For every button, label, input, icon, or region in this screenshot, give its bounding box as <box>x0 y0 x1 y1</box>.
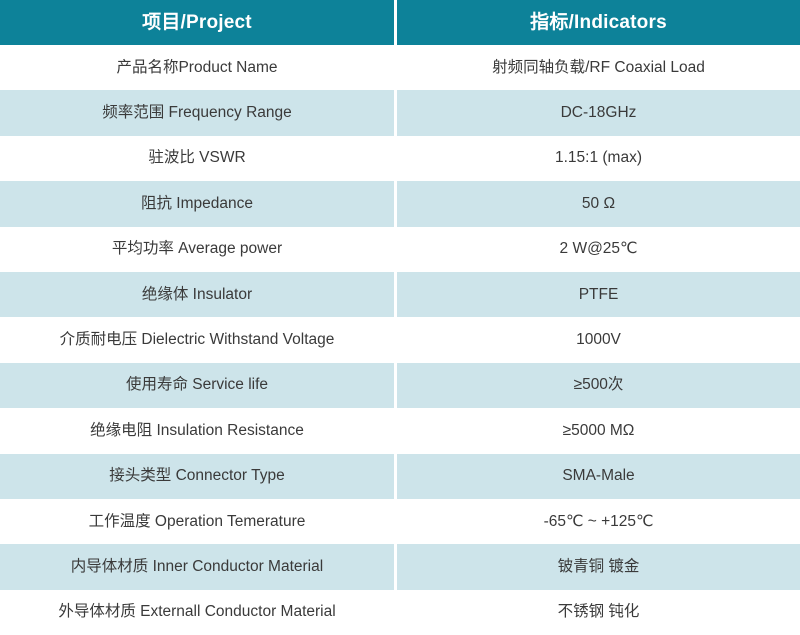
cell-indicator: 铍青铜 镀金 <box>396 544 800 589</box>
table-row: 平均功率 Average power2 W@25℃ <box>0 227 800 272</box>
cell-project: 内导体材质 Inner Conductor Material <box>0 544 396 589</box>
cell-project: 介质耐电压 Dielectric Withstand Voltage <box>0 317 396 362</box>
cell-indicator: 1.15:1 (max) <box>396 136 800 181</box>
table-header-row: 项目/Project 指标/Indicators <box>0 0 800 45</box>
table-row: 工作温度 Operation Temerature-65℃ ~ +125℃ <box>0 499 800 544</box>
table-row: 接头类型 Connector TypeSMA-Male <box>0 454 800 499</box>
column-header-indicators: 指标/Indicators <box>396 0 800 45</box>
cell-project: 驻波比 VSWR <box>0 136 396 181</box>
table-row: 产品名称Product Name射频同轴负载/RF Coaxial Load <box>0 45 800 90</box>
cell-indicator: -65℃ ~ +125℃ <box>396 499 800 544</box>
cell-indicator: SMA-Male <box>396 454 800 499</box>
table-row: 介质耐电压 Dielectric Withstand Voltage1000V <box>0 317 800 362</box>
table-row: 使用寿命 Service life≥500次 <box>0 363 800 408</box>
table-row: 频率范围 Frequency RangeDC-18GHz <box>0 90 800 135</box>
cell-indicator: ≥5000 MΩ <box>396 408 800 453</box>
column-header-project: 项目/Project <box>0 0 396 45</box>
specification-table: 项目/Project 指标/Indicators 产品名称Product Nam… <box>0 0 800 635</box>
table-row: 绝缘体 InsulatorPTFE <box>0 272 800 317</box>
cell-indicator: ≥500次 <box>396 363 800 408</box>
table-row: 阻抗 Impedance50 Ω <box>0 181 800 226</box>
cell-project: 绝缘体 Insulator <box>0 272 396 317</box>
cell-indicator: 2 W@25℃ <box>396 227 800 272</box>
table-body: 产品名称Product Name射频同轴负载/RF Coaxial Load频率… <box>0 45 800 635</box>
cell-project: 使用寿命 Service life <box>0 363 396 408</box>
table-row: 绝缘电阻 Insulation Resistance≥5000 MΩ <box>0 408 800 453</box>
table-header: 项目/Project 指标/Indicators <box>0 0 800 45</box>
cell-indicator: 50 Ω <box>396 181 800 226</box>
cell-project: 产品名称Product Name <box>0 45 396 90</box>
cell-indicator: DC-18GHz <box>396 90 800 135</box>
table-row: 外导体材质 Externall Conductor Material不锈钢 钝化 <box>0 590 800 635</box>
cell-project: 工作温度 Operation Temerature <box>0 499 396 544</box>
table-row: 内导体材质 Inner Conductor Material铍青铜 镀金 <box>0 544 800 589</box>
cell-project: 接头类型 Connector Type <box>0 454 396 499</box>
cell-indicator: PTFE <box>396 272 800 317</box>
table-row: 驻波比 VSWR1.15:1 (max) <box>0 136 800 181</box>
cell-indicator: 射频同轴负载/RF Coaxial Load <box>396 45 800 90</box>
cell-project: 绝缘电阻 Insulation Resistance <box>0 408 396 453</box>
cell-project: 阻抗 Impedance <box>0 181 396 226</box>
cell-project: 频率范围 Frequency Range <box>0 90 396 135</box>
cell-indicator: 1000V <box>396 317 800 362</box>
cell-indicator: 不锈钢 钝化 <box>396 590 800 635</box>
cell-project: 平均功率 Average power <box>0 227 396 272</box>
cell-project: 外导体材质 Externall Conductor Material <box>0 590 396 635</box>
